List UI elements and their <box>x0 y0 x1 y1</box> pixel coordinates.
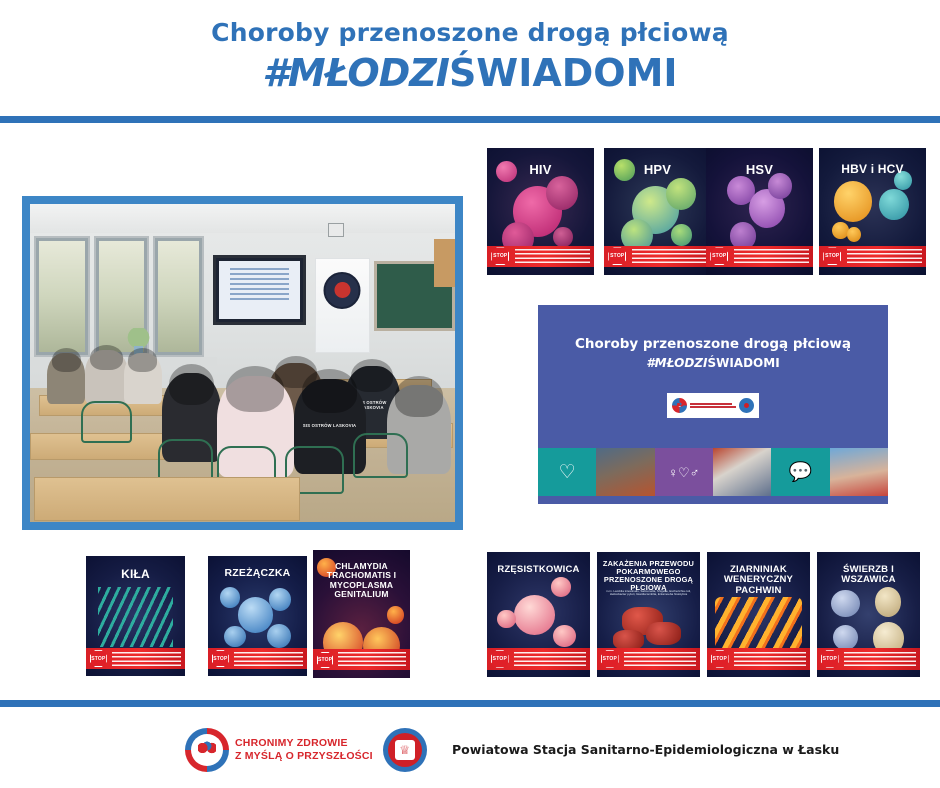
hoodie-text: SIS OSTRÓW LASKOVIA <box>299 423 360 428</box>
bacteria-graphic <box>613 630 644 650</box>
strip-cell-chat-heart: 💬 <box>771 448 829 496</box>
poster-title: HPV <box>608 163 706 178</box>
classroom-photo-frame: SIS OSTRÓW LASKOVIA SIS OSTRÓW LASKOVIA <box>22 196 463 530</box>
chronimy-zdrowie-logo-icon <box>672 398 687 413</box>
photo-presentation-screen <box>213 255 307 325</box>
stop-label: STOP <box>603 656 617 662</box>
chat-heart-icon: 💬 <box>771 448 829 496</box>
virus-graphic <box>834 181 873 222</box>
poster-kila[interactable]: KIŁA STOP <box>86 556 185 676</box>
poster-title: HSV <box>710 163 808 178</box>
bacteria-graphic <box>715 597 802 652</box>
poster-hpv[interactable]: HPV STOP <box>604 148 711 275</box>
footer-logos: CHRONIMY ZDROWIE Z MYŚLĄ O PRZYSZŁOŚCI ♕ <box>185 728 427 772</box>
pis-emblem-icon: ✦ <box>739 398 754 413</box>
stop-badge-icon: STOP <box>317 652 334 669</box>
poster-rzesistkowica[interactable]: RZĘSISTKOWICA STOP <box>487 552 590 677</box>
poster-hiv[interactable]: HIV STOP <box>487 148 594 275</box>
stop-badge-icon: STOP <box>491 247 509 265</box>
stop-label: STOP <box>825 253 839 259</box>
strip-cell-family-heart: ♡ <box>538 448 596 496</box>
virus-graphic <box>671 224 691 246</box>
strip-cell-sneakers-photo <box>596 448 654 496</box>
poster-swierzb-wszawica[interactable]: ŚWIERZB I WSZAWICA STOP <box>817 552 920 677</box>
virus-graphic <box>879 189 909 221</box>
stop-label: STOP <box>712 253 726 259</box>
virus-graphic <box>847 227 861 242</box>
page-title: Choroby przenoszone drogą płciową <box>0 18 940 47</box>
virus-graphic <box>546 176 578 210</box>
photo-ceiling <box>30 204 455 233</box>
photo-student <box>124 353 162 404</box>
poster-title: HBV i HCV <box>823 163 921 176</box>
pis-emblem-icon: ♕ <box>383 728 427 772</box>
page-header: Choroby przenoszone drogą płciową #MŁODZ… <box>0 0 940 116</box>
bacteria-graphic <box>646 622 681 645</box>
photo-window <box>153 236 204 357</box>
bacteria-graphic <box>238 597 274 633</box>
footer-logo-line-1: CHRONIMY ZDROWIE <box>235 737 373 750</box>
stop-badge-icon: STOP <box>823 247 841 265</box>
gender-symbols-icon: ♀♡♂ <box>655 448 713 496</box>
poster-title: ŚWIERZB I WSZAWICA <box>821 565 916 586</box>
poster-title: CHLAMYDIA TRACHOMATIS I MYCOPLASMA GENIT… <box>317 562 406 600</box>
parasite-graphic <box>553 625 576 648</box>
strip-cell-gender-symbols: ♀♡♂ <box>655 448 713 496</box>
parasite-graphic <box>514 595 555 635</box>
poster-page: Choroby przenoszone drogą płciową #MŁODZ… <box>0 0 940 788</box>
rollup-emblem-icon <box>324 272 361 309</box>
family-heart-icon: ♡ <box>538 448 596 496</box>
poster-rzezaczka[interactable]: RZEŻĄCZKA STOP <box>208 556 307 676</box>
campaign-hash-text: #MŁODZI <box>262 51 449 95</box>
campaign-card: Choroby przenoszone drogą płciową #MŁODZ… <box>538 305 888 504</box>
strip-cell-couple-photo <box>713 448 771 496</box>
poster-title: RZĘSISTKOWICA <box>491 565 586 576</box>
chronimy-zdrowie-wordmark: CHRONIMY ZDROWIE Z MYŚLĄ O PRZYSZŁOŚCI <box>235 737 373 763</box>
parasite-graphic <box>833 625 858 650</box>
stop-label: STOP <box>318 657 332 663</box>
card-hash-text: #MŁODZI <box>646 356 707 370</box>
stop-label: STOP <box>823 656 837 662</box>
footer-organization: Powiatowa Stacja Sanitarno-Epidemiologic… <box>452 742 839 757</box>
card-plain-text: ŚWIADOMI <box>707 356 779 370</box>
poster-title: HIV <box>491 163 589 178</box>
photo-chair <box>353 433 408 478</box>
divider-top <box>0 116 940 123</box>
virus-graphic <box>666 178 696 210</box>
divider-bottom <box>0 700 940 707</box>
card-logo-wordmark <box>690 403 736 409</box>
poster-title: ZAKAŻENIA PRZEWODU POKARMOWEGO PRZENOSZO… <box>601 560 696 593</box>
photo-window <box>34 236 89 357</box>
campaign-plain-text: ŚWIADOMI <box>449 51 678 95</box>
poster-ziarniniak-weneryczny[interactable]: ZIARNINIAK WENERYCZNY PACHWIN STOP <box>707 552 810 677</box>
virus-graphic <box>553 227 572 247</box>
poster-title: RZEŻĄCZKA <box>212 568 303 580</box>
stop-label: STOP <box>493 253 507 259</box>
bacteria-graphic <box>224 626 246 648</box>
card-hashtag: #MŁODZIŚWIADOMI <box>538 356 888 370</box>
stop-badge-icon: STOP <box>608 247 626 265</box>
stop-label: STOP <box>91 656 105 662</box>
bacteria-graphic <box>220 587 240 607</box>
poster-subtitle: m.in. Lamblia intestinalis, Salmonella, … <box>605 590 692 597</box>
parasite-graphic <box>831 590 860 618</box>
photo-desk <box>34 477 300 520</box>
photo-student <box>85 350 128 404</box>
poster-chlamydia[interactable]: CHLAMYDIA TRACHOMATIS I MYCOPLASMA GENIT… <box>313 550 410 678</box>
campaign-hashtag: #MŁODZIŚWIADOMI <box>0 54 940 92</box>
photo-chair <box>81 401 132 443</box>
poster-hbv-hcv[interactable]: HBV i HCV STOP <box>819 148 926 275</box>
stop-label: STOP <box>610 253 624 259</box>
photo-rollup-banner <box>315 258 370 353</box>
card-photo-strip: ♡ ♀♡♂ 💬 <box>538 448 888 496</box>
strip-cell-friends-photo <box>830 448 888 496</box>
parasite-graphic <box>497 610 516 629</box>
photo-wall-clock <box>328 223 344 237</box>
classroom-photo: SIS OSTRÓW LASKOVIA SIS OSTRÓW LASKOVIA <box>30 204 455 522</box>
chronimy-zdrowie-logo-icon <box>185 728 229 772</box>
stop-label: STOP <box>213 656 227 662</box>
stop-label: STOP <box>493 656 507 662</box>
poster-hsv[interactable]: HSV STOP <box>706 148 813 275</box>
photo-corkboard <box>434 239 455 287</box>
card-logo-strip: ✦ <box>667 393 759 418</box>
poster-zakazenia-przewodu-pokarmowego[interactable]: ZAKAŻENIA PRZEWODU POKARMOWEGO PRZENOSZO… <box>597 552 700 677</box>
stop-label: STOP <box>713 656 727 662</box>
card-bottom-bar <box>538 496 888 504</box>
photo-student <box>47 353 85 404</box>
poster-title: KIŁA <box>90 568 181 581</box>
poster-title: ZIARNINIAK WENERYCZNY PACHWIN <box>711 565 806 597</box>
bacteria-graphic <box>98 587 173 647</box>
card-title: Choroby przenoszone drogą płciową <box>538 336 888 352</box>
stop-badge-icon: STOP <box>710 247 728 265</box>
footer-logo-line-2: Z MYŚLĄ O PRZYSZŁOŚCI <box>235 750 373 763</box>
